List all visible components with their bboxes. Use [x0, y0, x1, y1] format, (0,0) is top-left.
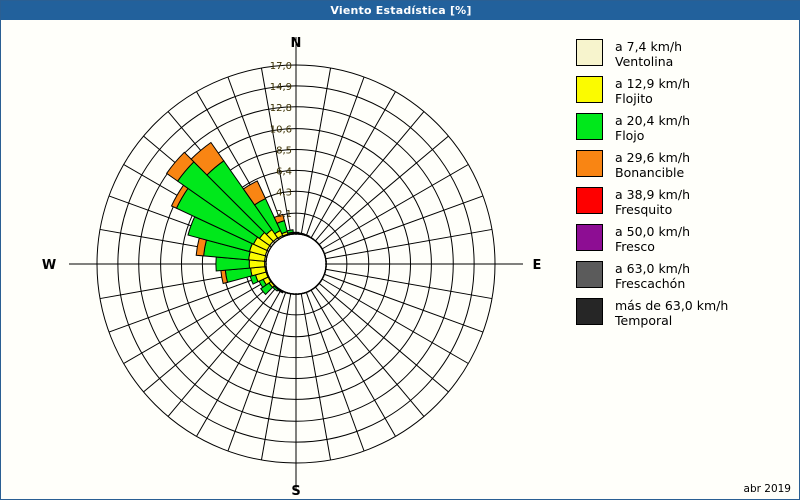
legend-item[interactable]: a 38,9 km/hFresquito	[576, 187, 796, 217]
window-titlebar: Viento Estadística [%]	[1, 1, 800, 20]
radial-tick-label: 6,4	[276, 166, 292, 177]
legend-item-name: Frescachón	[615, 276, 690, 291]
legend-color-swatch	[576, 76, 603, 103]
legend-item-name: Fresquito	[615, 202, 690, 217]
compass-label-south: S	[291, 484, 300, 499]
chart-period-label: abr 2019	[744, 483, 791, 495]
wind-rose-sector	[293, 232, 299, 233]
legend-item[interactable]: a 29,6 km/hBonancible	[576, 150, 796, 180]
legend-color-swatch	[576, 224, 603, 251]
legend-item-speed: a 7,4 km/h	[615, 39, 682, 54]
legend-item-speed: a 63,0 km/h	[615, 261, 690, 276]
legend-item-label: más de 63,0 km/hTemporal	[615, 298, 728, 328]
legend-item-label: a 63,0 km/hFrescachón	[615, 261, 690, 291]
compass-label-north: N	[291, 36, 302, 51]
radial-tick-labels: 2,14,36,48,510,612,814,917,0	[270, 61, 292, 220]
radial-tick-label: 8,5	[276, 146, 292, 157]
legend-item-label: a 38,9 km/hFresquito	[615, 187, 690, 217]
legend-color-swatch	[576, 187, 603, 214]
wind-rose-plot-area: 2,14,36,48,510,612,814,917,0 NESW	[2, 21, 568, 499]
wind-rose-chart: 2,14,36,48,510,612,814,917,0 NESW	[2, 21, 568, 499]
legend-item-label: a 50,0 km/hFresco	[615, 224, 690, 254]
legend-item[interactable]: a 12,9 km/hFlojito	[576, 76, 796, 106]
legend-color-swatch	[576, 261, 603, 288]
legend-item[interactable]: a 20,4 km/hFlojo	[576, 113, 796, 143]
legend-item-speed: a 29,6 km/h	[615, 150, 690, 165]
legend-item-speed: más de 63,0 km/h	[615, 298, 728, 313]
legend-item-name: Bonancible	[615, 165, 690, 180]
legend-item-name: Ventolina	[615, 54, 682, 69]
legend-color-swatch	[576, 39, 603, 66]
legend-item-label: a 12,9 km/hFlojito	[615, 76, 690, 106]
legend-item[interactable]: a 63,0 km/hFrescachón	[576, 261, 796, 291]
radial-tick-label: 4,3	[276, 187, 292, 198]
legend-item-name: Flojo	[615, 128, 690, 143]
radial-tick-label: 2,1	[276, 209, 292, 220]
legend-item-speed: a 12,9 km/h	[615, 76, 690, 91]
radial-tick-label: 10,6	[270, 125, 292, 136]
radial-tick-label: 17,0	[270, 61, 292, 72]
wind-rose-window: Viento Estadística [%] 2,14,36,48,510,61…	[0, 0, 800, 500]
polar-center-disc	[266, 234, 326, 294]
compass-label-east: E	[533, 258, 542, 273]
legend-item-label: a 7,4 km/hVentolina	[615, 39, 682, 69]
legend-item-name: Flojito	[615, 91, 690, 106]
compass-label-west: W	[42, 258, 56, 273]
window-title: Viento Estadística [%]	[330, 4, 471, 17]
radial-tick-label: 14,9	[270, 82, 292, 93]
legend-item-speed: a 38,9 km/h	[615, 187, 690, 202]
legend-color-swatch	[576, 113, 603, 140]
legend-item-speed: a 20,4 km/h	[615, 113, 690, 128]
legend-item[interactable]: más de 63,0 km/hTemporal	[576, 298, 796, 328]
legend-item-speed: a 50,0 km/h	[615, 224, 690, 239]
legend-item[interactable]: a 7,4 km/hVentolina	[576, 39, 796, 69]
legend-color-swatch	[576, 298, 603, 325]
legend-color-swatch	[576, 150, 603, 177]
legend: a 7,4 km/hVentolinaa 12,9 km/hFlojitoa 2…	[576, 39, 796, 335]
radial-tick-label: 12,8	[270, 103, 292, 114]
wind-rose-sector	[287, 230, 293, 233]
legend-item-label: a 29,6 km/hBonancible	[615, 150, 690, 180]
legend-item-label: a 20,4 km/hFlojo	[615, 113, 690, 143]
legend-item[interactable]: a 50,0 km/hFresco	[576, 224, 796, 254]
legend-item-name: Fresco	[615, 239, 690, 254]
legend-item-name: Temporal	[615, 313, 728, 328]
